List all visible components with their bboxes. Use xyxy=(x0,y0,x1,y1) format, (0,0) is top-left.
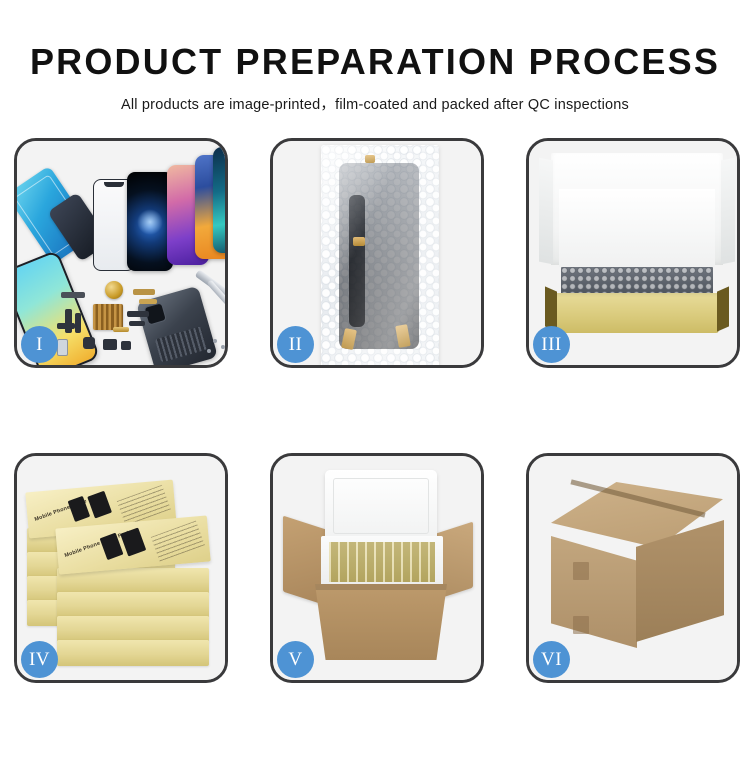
camera-module-part xyxy=(83,337,95,349)
white-foam-sheet xyxy=(559,189,715,267)
carton-body xyxy=(315,584,447,660)
box-artwork-front-2 xyxy=(120,527,146,556)
carton-tape-lower xyxy=(573,616,589,634)
box-spec-text-front xyxy=(151,521,205,562)
step-badge-3: III xyxy=(533,326,570,363)
flex-cable-4 xyxy=(127,311,149,317)
grey-bubble-padding xyxy=(561,267,713,295)
teal-gradient-phone xyxy=(213,147,225,253)
flex-cable-3 xyxy=(57,323,75,329)
vibration-motor-part xyxy=(105,281,123,299)
yellow-boxes-inside xyxy=(329,542,435,582)
screw-1 xyxy=(213,339,217,343)
stacked-box-front-2 xyxy=(57,592,209,618)
speaker-part xyxy=(103,339,117,350)
process-row-2: Mobile Phone Spare Parts Mobile Pho xyxy=(0,453,750,688)
box-artwork-rear-2 xyxy=(87,491,112,519)
battery-part xyxy=(57,339,68,356)
step-badge-4: IV xyxy=(21,641,58,678)
gold-flex-part xyxy=(139,299,157,304)
phone-back-housing xyxy=(136,286,218,365)
flex-cable-1 xyxy=(65,309,72,333)
header: PRODUCT PREPARATION PROCESS All products… xyxy=(0,0,750,114)
box-stack: Mobile Phone Spare Parts Mobile Pho xyxy=(25,472,225,672)
gold-connector-part xyxy=(133,289,155,295)
process-panel-6: VI xyxy=(526,453,740,683)
tweezers-tool xyxy=(206,279,225,308)
sealed-carton-left-face xyxy=(551,536,637,648)
foam-lid xyxy=(325,470,437,540)
earpiece-part xyxy=(61,292,85,298)
page-subtitle: All products are image-printed，film-coat… xyxy=(0,93,750,114)
process-grid: I II xyxy=(0,138,750,768)
yellow-box-base xyxy=(555,293,719,333)
product-preparation-infographic: PRODUCT PREPARATION PROCESS All products… xyxy=(0,0,750,750)
screw-2 xyxy=(221,345,225,349)
stacked-box-front-4 xyxy=(57,640,209,666)
bubble-wrap-bag xyxy=(321,145,439,365)
screw-3 xyxy=(207,349,211,353)
process-panel-3: III xyxy=(526,138,740,368)
step-badge-2: II xyxy=(277,326,314,363)
small-module-part xyxy=(121,341,131,350)
flex-cable-2 xyxy=(75,313,81,333)
process-row-1: I II xyxy=(0,138,750,373)
process-panel-1: I xyxy=(14,138,228,368)
step-badge-6: VI xyxy=(533,641,570,678)
process-panel-2: II xyxy=(270,138,484,368)
flex-cable-5 xyxy=(129,321,145,326)
page-title: PRODUCT PREPARATION PROCESS xyxy=(0,44,750,80)
step-badge-5: V xyxy=(277,641,314,678)
gold-contact-strip xyxy=(113,327,129,332)
carton-tape-upper xyxy=(573,562,589,580)
bag-gloss-highlight xyxy=(321,145,439,365)
process-panel-5: V xyxy=(270,453,484,683)
stacked-box-front-3 xyxy=(57,616,209,642)
step-badge-1: I xyxy=(21,326,58,363)
process-panel-4: Mobile Phone Spare Parts Mobile Pho xyxy=(14,453,228,683)
